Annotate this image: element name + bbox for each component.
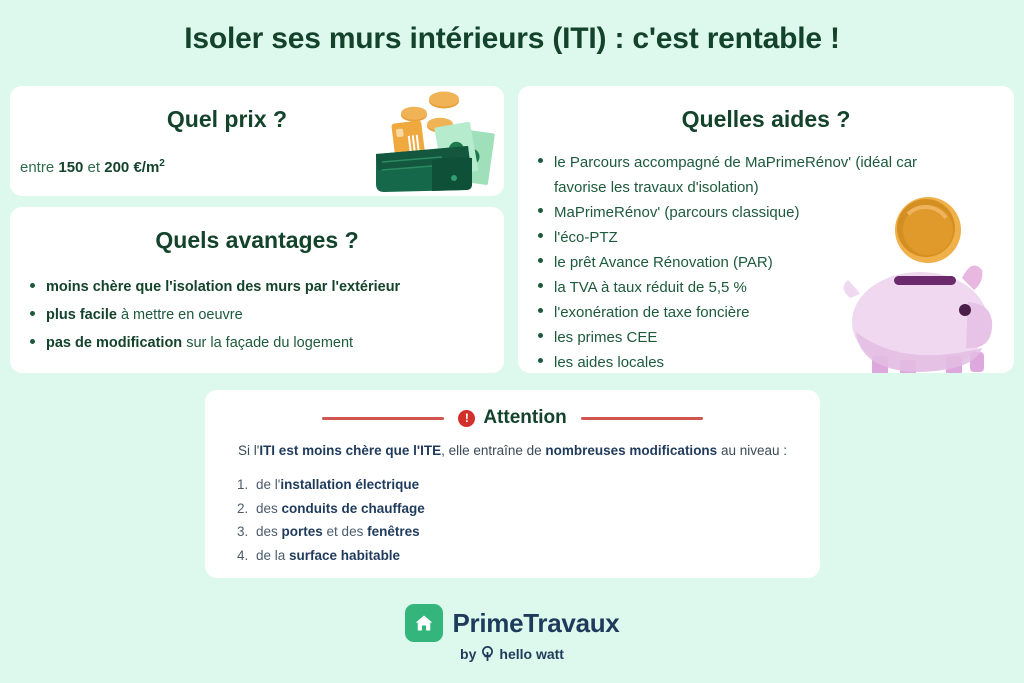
intro-part-bold: ITI est moins chère que l'ITE [259, 443, 441, 458]
item-strong: installation électrique [280, 477, 419, 492]
home-icon [414, 613, 434, 633]
list-item: l'exonération de taxe foncière [534, 300, 954, 325]
list-item: les aides locales [534, 350, 954, 375]
attention-title: Attention [483, 407, 566, 429]
brand-badge [405, 604, 443, 642]
list-item: le prêt Avance Rénovation (PAR) [534, 250, 954, 275]
attention-intro: Si l'ITI est moins chère que l'ITE, elle… [205, 443, 820, 458]
advantage-rest: que l'isolation des murs par l'extérieur [131, 279, 400, 295]
list-item: les primes CEE [534, 325, 954, 350]
list-item: la TVA à taux réduit de 5,5 % [534, 275, 954, 300]
divider-right [581, 417, 703, 420]
price-low: 150 [58, 159, 83, 176]
item-strong: surface habitable [289, 548, 400, 563]
wallet-money-illustration [372, 88, 504, 196]
brand-byline: by hello watt [0, 646, 1024, 662]
byline-label: by [460, 646, 476, 662]
brand-name: PrimeTravaux [453, 608, 620, 639]
attention-header: ! Attention [205, 405, 820, 431]
divider-left [322, 417, 444, 420]
advantage-strong: moins chère [46, 279, 131, 295]
price-high: 200 €/m [104, 159, 159, 176]
attention-title-group: ! Attention [458, 407, 566, 429]
item-prefix: de la [256, 548, 289, 563]
lightbulb-icon [481, 646, 494, 662]
exclamation-circle-icon: ! [458, 410, 475, 427]
list-item: plus facile à mettre en oeuvre [26, 303, 466, 327]
advantage-strong: pas de modification [46, 335, 182, 351]
price-prefix: entre [20, 159, 58, 176]
item-strong: conduits de chauffage [282, 501, 425, 516]
price-mid: et [83, 159, 104, 176]
price-value: entre 150 et 200 €/m2 [20, 158, 165, 176]
list-item: l'éco-PTZ [534, 225, 954, 250]
attention-list: de l'installation électrique des conduit… [228, 473, 425, 567]
list-item: de la surface habitable [252, 544, 425, 568]
aids-card-title: Quelles aides ? [518, 106, 1014, 133]
price-exponent: 2 [159, 158, 165, 169]
intro-part: au niveau : [717, 443, 787, 458]
list-item: moins chère que l'isolation des murs par… [26, 275, 466, 299]
list-item: pas de modification sur la façade du log… [26, 331, 466, 355]
advantage-strong: plus facile [46, 307, 117, 323]
list-item: de l'installation électrique [252, 473, 425, 497]
item-prefix: de l' [256, 477, 280, 492]
list-item: le Parcours accompagné de MaPrimeRénov' … [534, 150, 954, 200]
intro-part-bold: nombreuses modifications [545, 443, 717, 458]
item-strong: portes [282, 524, 323, 539]
aids-list: le Parcours accompagné de MaPrimeRénov' … [534, 150, 954, 375]
item-suffix: et des [323, 524, 367, 539]
advantage-rest: sur la façade du logement [182, 335, 353, 351]
footer: PrimeTravaux by hello watt [0, 604, 1024, 662]
list-item: des portes et des fenêtres [252, 520, 425, 544]
brand-row[interactable]: PrimeTravaux [0, 604, 1024, 642]
intro-part: Si l' [238, 443, 259, 458]
item-prefix: des [256, 524, 282, 539]
advantages-list: moins chère que l'isolation des murs par… [26, 275, 466, 359]
intro-part: , elle entraîne de [441, 443, 545, 458]
advantages-card-title: Quels avantages ? [10, 227, 504, 254]
page-title: Isoler ses murs intérieurs (ITI) : c'est… [0, 22, 1024, 56]
item-prefix: des [256, 501, 282, 516]
advantage-rest: à mettre en oeuvre [117, 307, 243, 323]
infographic-root: Isoler ses murs intérieurs (ITI) : c'est… [0, 0, 1024, 683]
byline-brand: hello watt [499, 646, 564, 662]
item-strong-2: fenêtres [367, 524, 420, 539]
list-item: MaPrimeRénov' (parcours classique) [534, 200, 954, 225]
list-item: des conduits de chauffage [252, 497, 425, 521]
